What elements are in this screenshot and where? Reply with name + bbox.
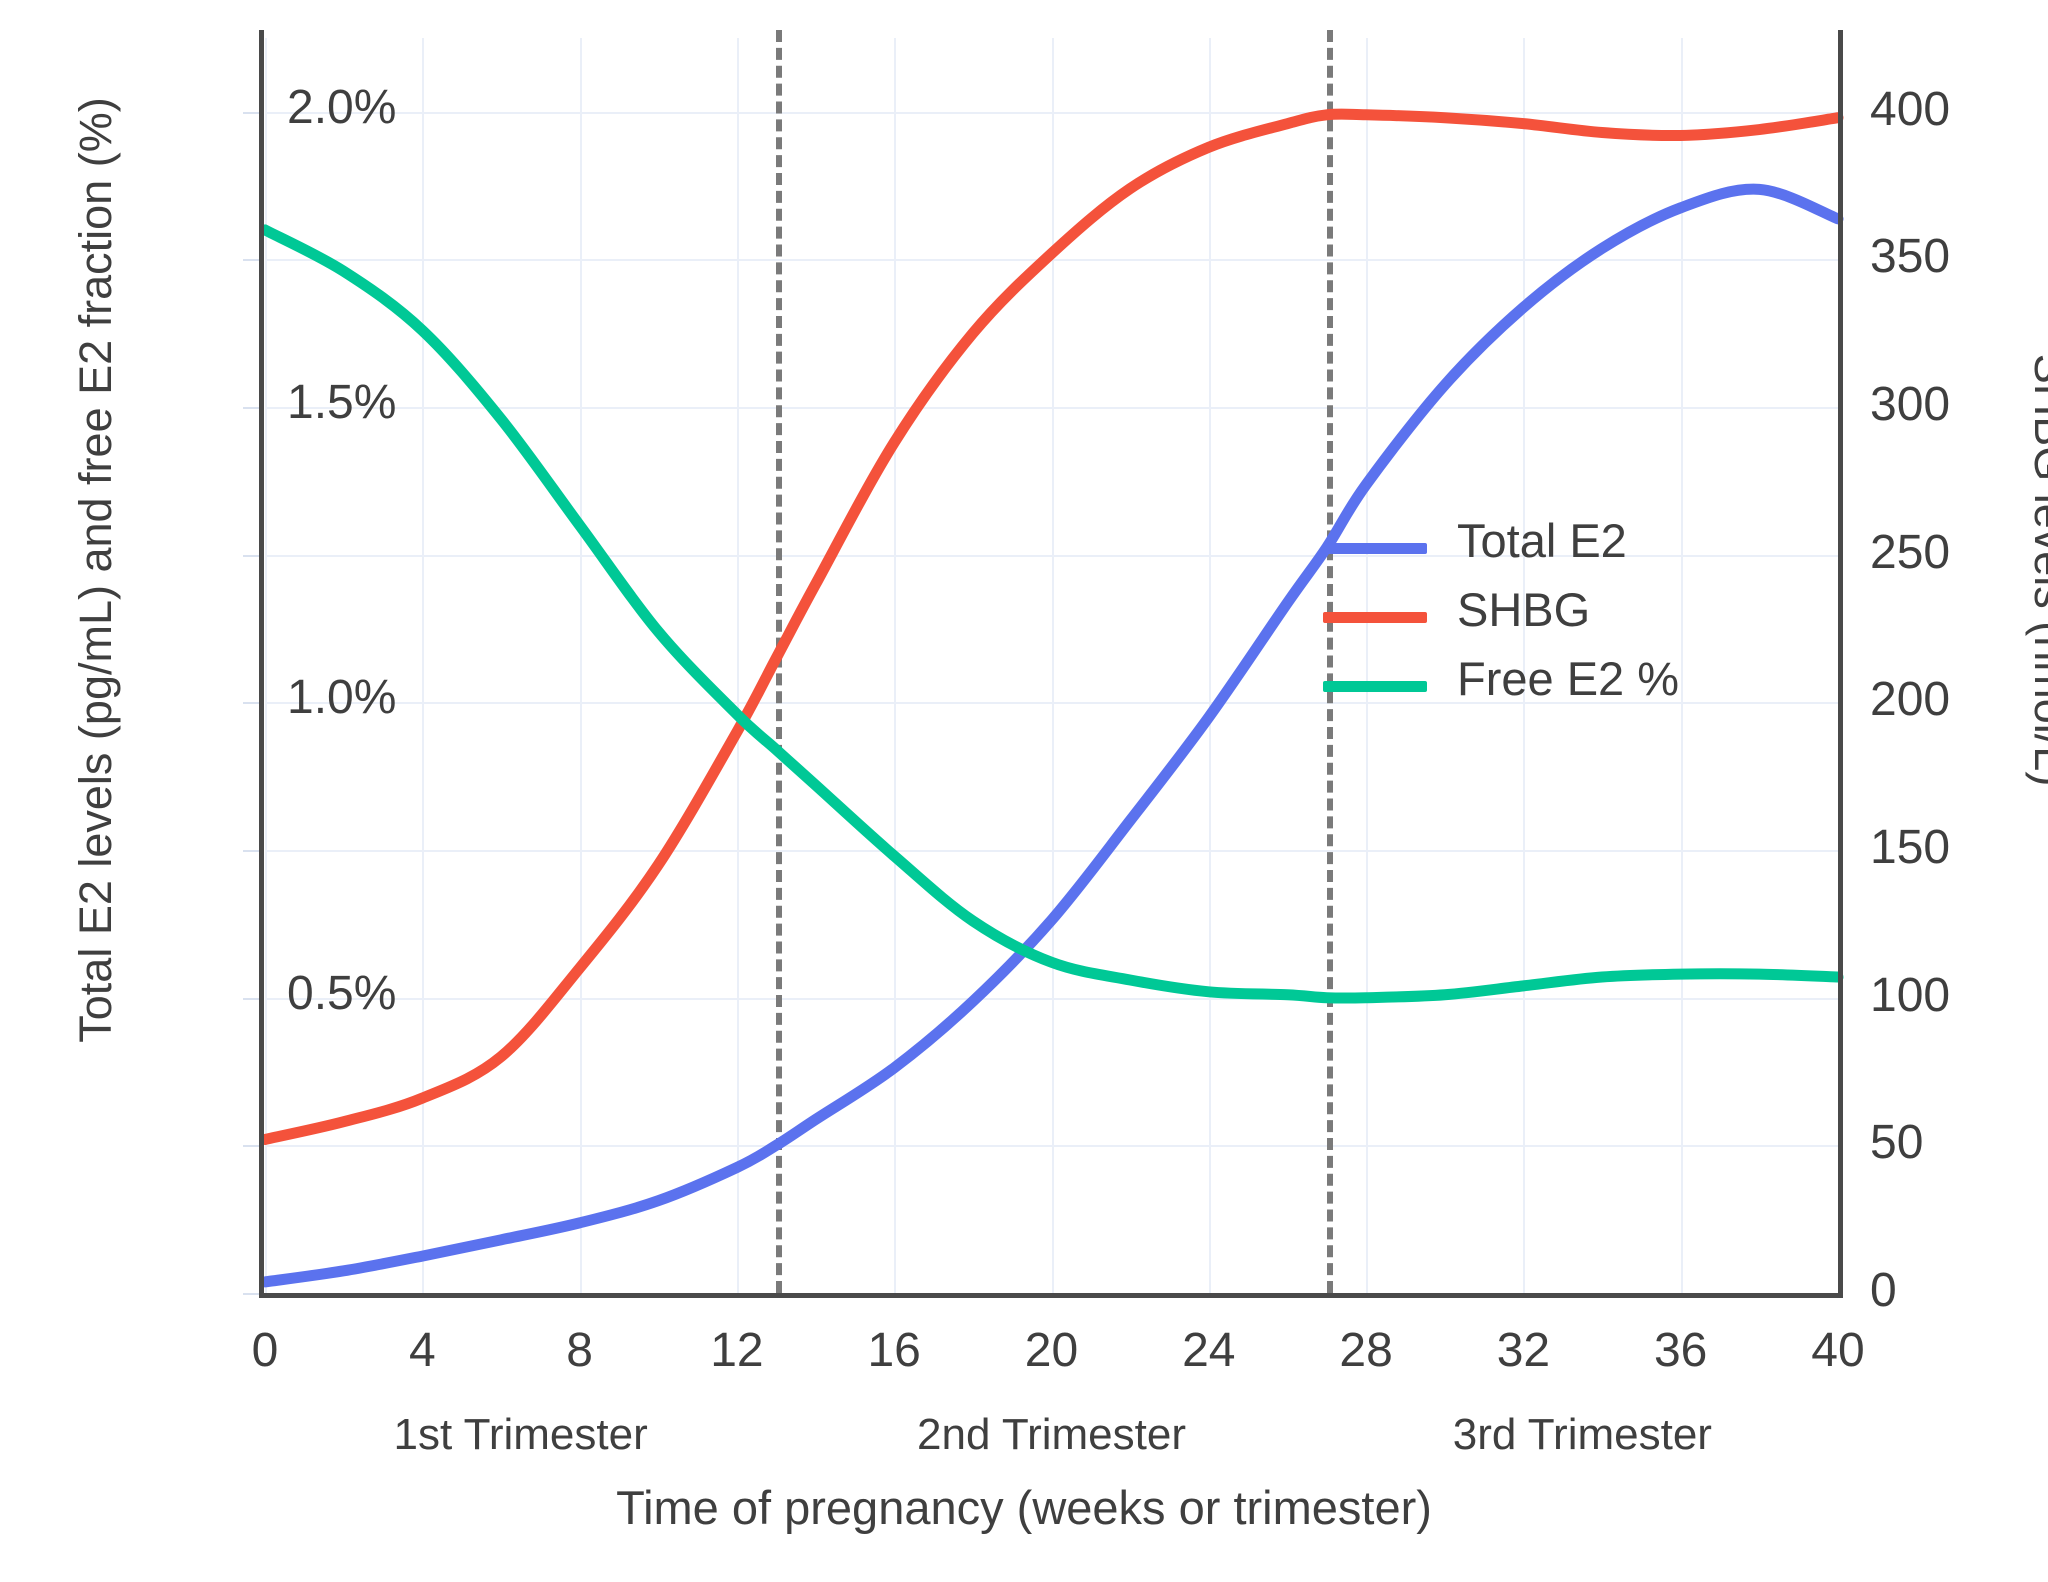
y-axis-right-ticklabel: 250 (1870, 525, 2048, 580)
axis-spine-right (1838, 30, 1843, 1293)
y-axis-right-ticklabel: 350 (1870, 229, 2048, 284)
chart-legend: Total E2SHBGFree E2 % (1323, 513, 1623, 720)
y-axis-right-ticklabel: 0 (1870, 1263, 2048, 1318)
percent-annotation: 2.0% (287, 80, 396, 135)
legend-item[interactable]: Total E2 (1323, 513, 1623, 582)
y-axis-right-ticklabel: 400 (1870, 82, 2048, 137)
tick-mark (243, 702, 260, 704)
legend-label: SHBG (1457, 582, 1590, 637)
trimester-label: 1st Trimester (311, 1410, 731, 1460)
legend-swatch (1323, 681, 1427, 692)
legend-swatch (1323, 543, 1427, 554)
y-axis-right-ticklabel: 100 (1870, 968, 2048, 1023)
percent-annotation: 1.5% (287, 375, 396, 430)
y-axis-right-ticklabel: 200 (1870, 672, 2048, 727)
tick-mark (243, 1293, 260, 1295)
legend-label: Free E2 % (1457, 651, 1679, 706)
x-axis-title: Time of pregnancy (weeks or trimester) (0, 1480, 2048, 1535)
tick-mark (243, 555, 260, 557)
series-line-total-e2 (265, 189, 1838, 1282)
trimester-label: 2nd Trimester (842, 1410, 1262, 1460)
legend-item[interactable]: SHBG (1323, 582, 1623, 651)
trimester-label: 3rd Trimester (1372, 1410, 1792, 1460)
axis-spine-left (259, 30, 264, 1293)
y-axis-right-ticklabel: 150 (1870, 820, 2048, 875)
tick-mark (243, 407, 260, 409)
y-axis-left-title: Total E2 levels (pg/mL) and free E2 frac… (66, 70, 126, 1070)
percent-annotation: 0.5% (287, 966, 396, 1021)
tick-mark (243, 1145, 260, 1147)
legend-swatch (1323, 612, 1427, 623)
y-axis-right-ticklabel: 300 (1870, 377, 2048, 432)
x-axis-ticklabel: 40 (1738, 1323, 1938, 1378)
tick-mark (243, 112, 260, 114)
tick-mark (243, 850, 260, 852)
legend-item[interactable]: Free E2 % (1323, 651, 1623, 720)
axis-spine-bottom (259, 1293, 1843, 1298)
legend-label: Total E2 (1457, 513, 1627, 568)
y-axis-right-ticklabel: 50 (1870, 1115, 2048, 1170)
chart-plot-area: 02,0004,0006,0008,00010,00012,00014,0001… (265, 38, 1838, 1293)
tick-mark (243, 998, 260, 1000)
percent-annotation: 1.0% (287, 670, 396, 725)
tick-mark (243, 259, 260, 261)
